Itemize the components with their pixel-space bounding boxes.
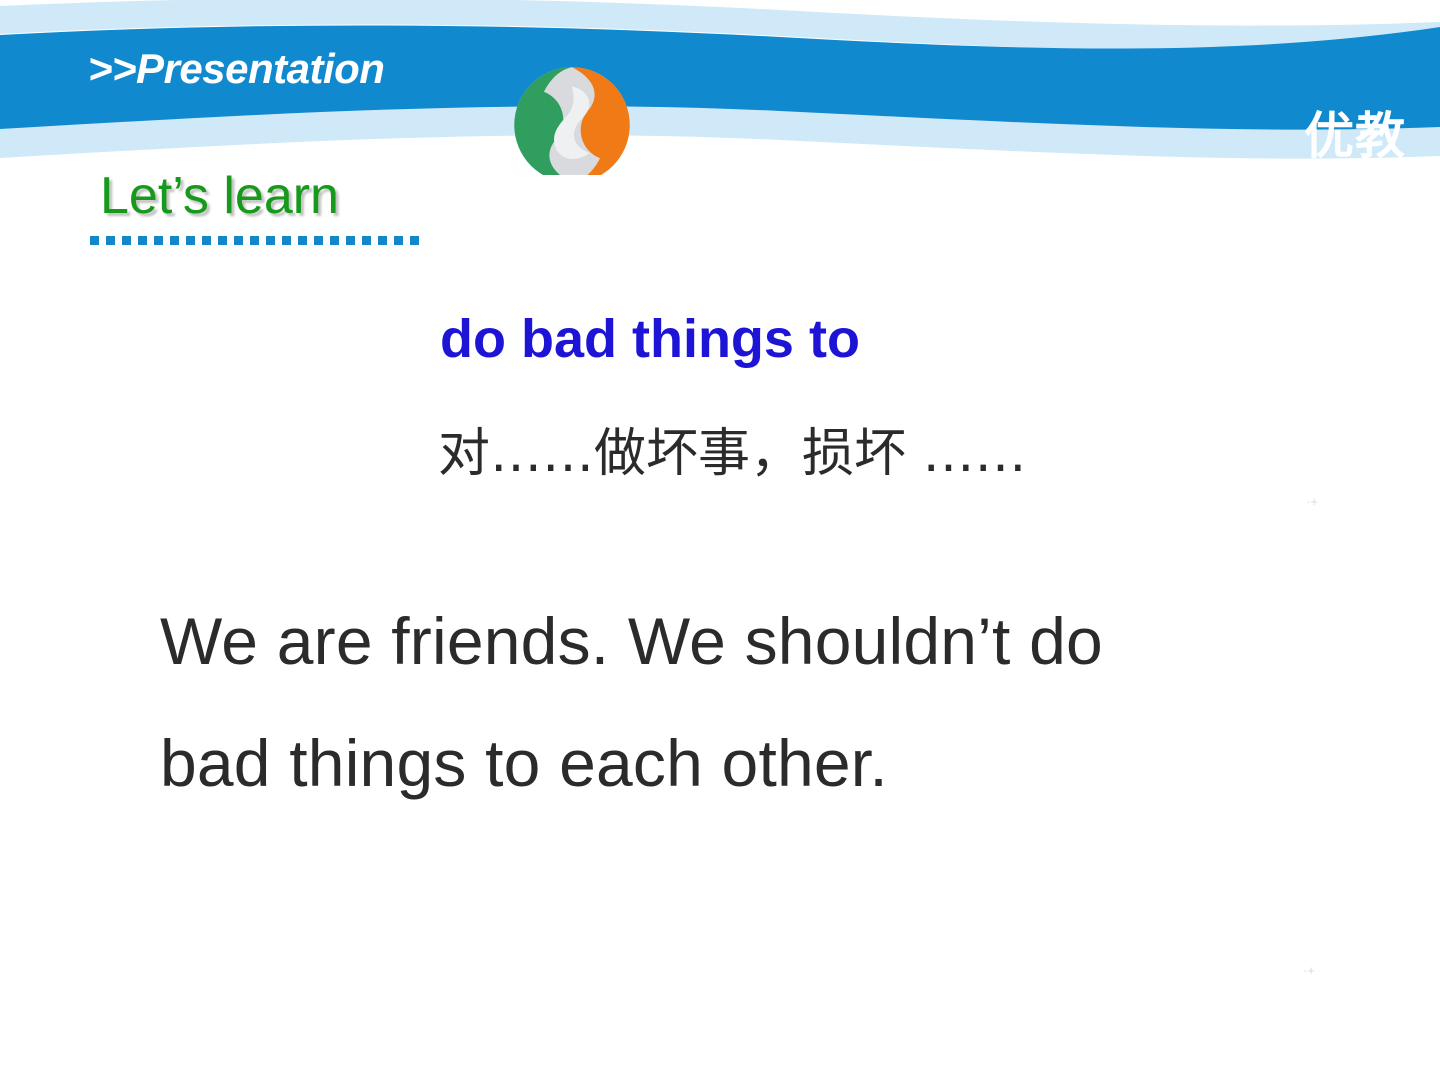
yujiao-swirl-book-logo-icon bbox=[0, 48, 1292, 175]
brand-name: 优教 bbox=[1304, 111, 1406, 161]
vocabulary-chinese-translation: 对……做坏事，损坏 …… bbox=[438, 425, 1027, 485]
scan-artifact-low: ·+ bbox=[1303, 963, 1315, 978]
brand-logo: 优教 bbox=[0, 48, 1406, 175]
example-sentence-line-1: We are friends. We shouldn’t do bbox=[160, 580, 1340, 702]
example-sentence-line-2: bad things to each other. bbox=[160, 702, 1340, 824]
header-banner: >>Presentation 优教 bbox=[0, 0, 1440, 175]
vocabulary-english-phrase: do bad things to bbox=[440, 310, 860, 369]
presentation-slide: >>Presentation 优教 Let’s learn do bad thi… bbox=[0, 0, 1440, 1080]
section-heading: Let’s learn bbox=[100, 170, 339, 222]
example-sentence: We are friends. We shouldn’t do bad thin… bbox=[160, 580, 1340, 824]
scan-artifact-mid: ·+ bbox=[1306, 494, 1318, 509]
section-dotted-rule bbox=[90, 236, 420, 245]
